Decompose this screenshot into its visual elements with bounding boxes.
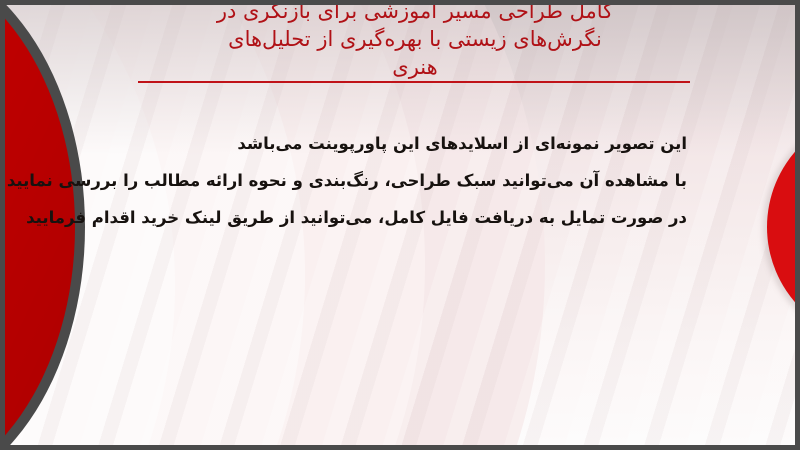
title-line-3: هنری bbox=[100, 53, 730, 81]
title-line-2: نگرش‌های زیستی با بهره‌گیری از تحلیل‌های bbox=[100, 25, 730, 53]
title-underline bbox=[138, 81, 690, 83]
slide-title: کامل طراحی مسیر آموزشی برای بازنگری در ن… bbox=[100, 5, 730, 81]
slide-body: این تصویر نمونه‌ای از اسلایدهای این پاور… bbox=[107, 125, 687, 236]
body-line-3: در صورت تمایل به دریافت فایل کامل، می‌تو… bbox=[107, 199, 687, 236]
slide-content-plate: کامل طراحی مسیر آموزشی برای بازنگری در ن… bbox=[5, 5, 795, 445]
body-line-1: این تصویر نمونه‌ای از اسلایدهای این پاور… bbox=[107, 125, 687, 162]
body-line-2: با مشاهده آن می‌توانید سبک طراحی، رنگ‌بن… bbox=[107, 162, 687, 199]
title-line-1: کامل طراحی مسیر آموزشی برای بازنگری در bbox=[100, 5, 730, 25]
slide-canvas: کامل طراحی مسیر آموزشی برای بازنگری در ن… bbox=[0, 0, 800, 450]
